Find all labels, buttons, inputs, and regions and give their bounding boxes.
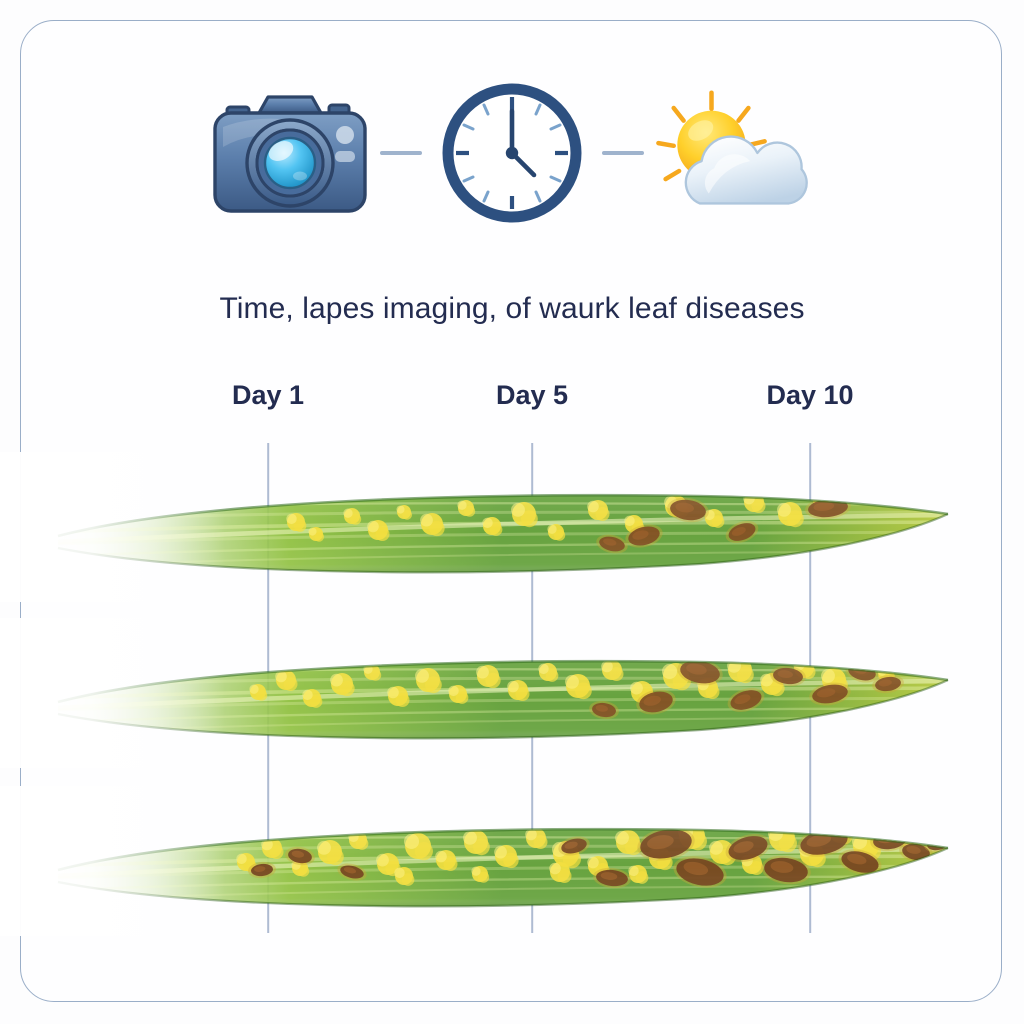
infographic-canvas: Time, lapes imaging, of waurk leaf disea… (0, 0, 1024, 1024)
day-label-1: Day 1 (232, 380, 304, 411)
timeline-guide-day-1 (267, 443, 269, 933)
clock-icon (422, 78, 602, 228)
process-icon-row (0, 78, 1024, 228)
camera-icon (200, 78, 380, 228)
day-label-2: Day 5 (496, 380, 568, 411)
page-title: Time, lapes imaging, of waurk leaf disea… (0, 292, 1024, 326)
sun-cloud-icon (644, 78, 824, 228)
connector-line-1 (380, 151, 422, 155)
day-label-3: Day 10 (766, 380, 853, 411)
connector-line-2 (602, 151, 644, 155)
timeline-guide-day-10 (809, 443, 811, 933)
timeline-guide-day-5 (531, 443, 533, 933)
